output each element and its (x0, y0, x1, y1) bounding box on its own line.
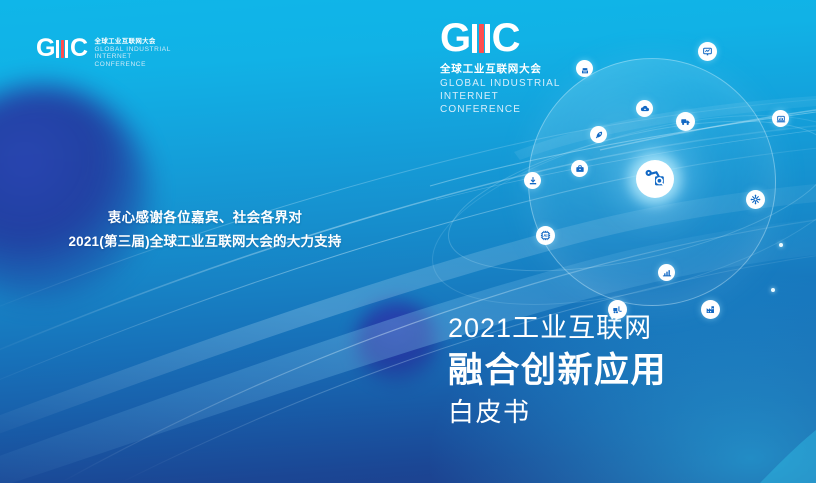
giic-bars-icon (56, 40, 68, 58)
title-line-3: 白皮书 (448, 396, 667, 430)
giic-bars-icon (472, 24, 490, 53)
cloud-upload-icon (636, 100, 653, 117)
giic-wordmark-left: G C (36, 36, 88, 61)
briefcase-icon (571, 160, 588, 177)
logo-left-text: 全球工业互联网大会 GLOBAL INDUSTRIAL INTERNET CON… (95, 36, 171, 69)
svg-text:AI: AI (543, 233, 547, 238)
robot-arm-icon (636, 160, 674, 198)
factory-icon (576, 60, 593, 77)
title-line-2: 融合创新应用 (448, 348, 667, 394)
bar-chart-icon (658, 264, 675, 281)
sparkle-dot (771, 288, 775, 292)
navy-orb-center (356, 302, 438, 384)
network-sphere-graphic: AI (498, 42, 816, 342)
gear-network-icon (746, 190, 765, 209)
thank-you-line-2: 2021(第三届)全球工业互联网大会的大力支持 (40, 230, 370, 254)
monitor-chart-icon (698, 42, 717, 61)
laptop-data-icon (772, 110, 789, 127)
logo-left-cn: 全球工业互联网大会 (95, 38, 171, 46)
poster-canvas: G C 全球工业互联网大会 GLOBAL INDUSTRIAL INTERNET… (0, 0, 816, 483)
logo-left-en-1: GLOBAL INDUSTRIAL (95, 46, 171, 54)
sparkle-dot (779, 243, 783, 247)
rocket-icon (590, 126, 607, 143)
thank-you-line-1: 衷心感谢各位嘉宾、社会各界对 (40, 206, 370, 230)
forklift-icon (608, 300, 627, 319)
logo-left: G C 全球工业互联网大会 GLOBAL INDUSTRIAL INTERNET… (36, 36, 171, 69)
thank-you-message: 衷心感谢各位嘉宾、社会各界对 2021(第三届)全球工业互联网大会的大力支持 (40, 206, 370, 253)
download-icon (524, 172, 541, 189)
giic-letter-g: G (440, 18, 471, 58)
navy-orb-left (0, 86, 150, 302)
industry-icon (701, 300, 720, 319)
truck-icon (676, 112, 695, 131)
logo-left-en-2: INTERNET (95, 53, 171, 61)
giic-letter-g: G (36, 36, 55, 61)
ai-chip-icon: AI (536, 226, 555, 245)
logo-left-en-3: CONFERENCE (95, 61, 171, 69)
giic-letter-c: C (70, 36, 88, 61)
